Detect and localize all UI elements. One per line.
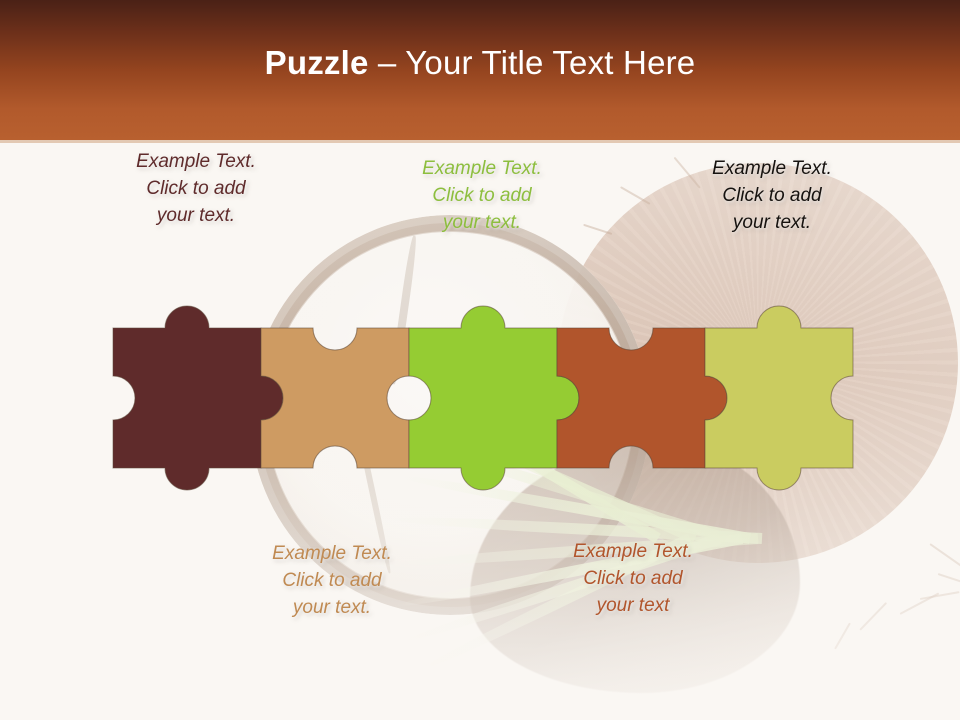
caption-top-right[interactable]: Example Text. Click to add your text. <box>672 155 872 236</box>
coconut-fibre <box>620 186 650 205</box>
caption-top-left[interactable]: Example Text. Click to add your text. <box>96 148 296 229</box>
slide-canvas: Puzzle – Your Title Text Here Example Te… <box>0 0 960 720</box>
puzzle-piece-5-fill <box>705 306 853 490</box>
caption-bottom-right[interactable]: Example Text. Click to add your text <box>533 538 733 619</box>
coconut-fibre <box>859 602 887 631</box>
page-title-rest: – Your Title Text Here <box>369 44 696 81</box>
coconut-fibre <box>900 592 940 614</box>
page-title-bold: Puzzle <box>265 44 369 81</box>
coconut-fibre <box>834 623 851 650</box>
page-title[interactable]: Puzzle – Your Title Text Here <box>0 44 960 82</box>
puzzle-diagram <box>113 278 853 518</box>
coconut-fibre <box>929 543 960 571</box>
puzzle-piece-5-shape <box>683 278 875 518</box>
caption-top-center[interactable]: Example Text. Click to add your text. <box>382 155 582 236</box>
caption-bottom-left[interactable]: Example Text. Click to add your text. <box>232 540 432 621</box>
puzzle-piece-5[interactable] <box>705 278 853 518</box>
coconut-fibre <box>938 573 960 591</box>
